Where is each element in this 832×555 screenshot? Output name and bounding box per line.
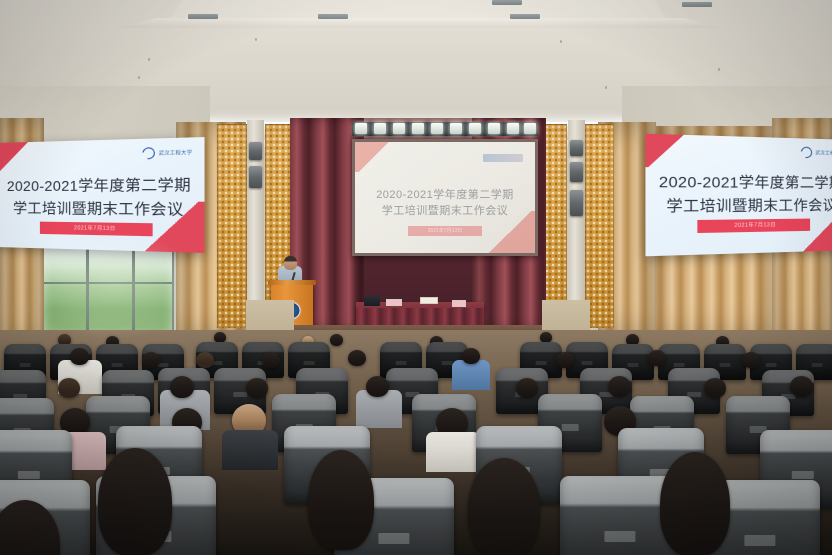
loudspeaker: [570, 140, 583, 156]
stage-light: [412, 123, 424, 134]
loudspeaker: [570, 162, 583, 182]
acoustic-panel: [585, 124, 614, 328]
attendee-head: [308, 450, 374, 550]
slide-date: 2021年7月13日: [697, 219, 810, 233]
podium-top: [268, 280, 316, 285]
loudspeaker: [570, 190, 583, 216]
attendee-head: [742, 352, 760, 368]
ceiling-vent: [188, 14, 218, 19]
university-wordmark: 武汉工程大学: [815, 150, 832, 157]
led-display-left: 武汉工程大学 2020-2021学年度第二学期 学工培训暨期末工作会议 2021…: [0, 137, 205, 253]
university-logo-icon: [140, 145, 158, 162]
university-logo: 武汉工程大学: [143, 146, 193, 159]
slide-title-line2: 学工培训暨期末工作会议: [0, 198, 205, 221]
attendee-head: [58, 378, 80, 398]
stage-light: [488, 123, 500, 134]
name-card: [386, 299, 402, 306]
attendee-torso: [452, 360, 490, 390]
slide-corner-accent-top-left: [645, 134, 685, 168]
window-left: [42, 246, 174, 338]
laptop: [364, 296, 380, 306]
ceiling-speck: [560, 40, 562, 43]
projection-screen-frame: 2020-2021学年度第二学期 学工培训暨期末工作会议 2021年7月13日: [352, 139, 538, 256]
audience-area: [0, 330, 832, 555]
ceiling-speck: [255, 38, 257, 41]
stage-light: [450, 123, 462, 134]
stage-light: [355, 123, 367, 134]
university-logo-icon: [799, 145, 815, 161]
window-mullion: [132, 248, 135, 336]
attendee-head: [246, 378, 268, 398]
attendee-head: [704, 378, 726, 398]
attendee-head: [468, 458, 540, 555]
attendee-head: [462, 348, 480, 364]
attendee-head: [648, 350, 666, 366]
stage-light: [469, 123, 481, 134]
attendee-head: [262, 352, 280, 368]
attendee-head: [330, 334, 343, 346]
loudspeaker: [249, 142, 262, 160]
ceiling-speck: [718, 68, 720, 71]
slide-date: 2021年7月13日: [408, 226, 482, 236]
attendee-head: [556, 352, 574, 368]
slide-title-line2: 学工培训暨期末工作会议: [355, 202, 535, 218]
attendee-torso: [222, 430, 278, 470]
attendee-head: [170, 376, 194, 398]
slide-title-line1: 2020-2021学年度第二学期: [0, 174, 205, 196]
ceiling-step: [120, 18, 720, 28]
attendee-head: [142, 352, 160, 368]
slide-corner-accent-top-left: [355, 142, 393, 172]
slide-date: 2021年7月13日: [40, 222, 153, 237]
attendee-head: [516, 378, 538, 398]
ceiling-vent: [682, 2, 712, 7]
attendee-head: [790, 376, 813, 397]
ceiling-vent: [492, 0, 522, 5]
stage-light: [507, 123, 519, 134]
window-mullion: [86, 248, 89, 336]
ceiling-speck: [148, 58, 150, 61]
photo-scene: 2020-2021学年度第二学期 学工培训暨期末工作会议 2021年7月13日 …: [0, 0, 832, 555]
attendee-head: [348, 350, 366, 366]
slide-title-line1: 2020-2021学年度第二学期: [645, 170, 832, 193]
stage-light: [524, 123, 536, 134]
attendee-head: [608, 376, 631, 397]
attendee-torso: [426, 432, 480, 472]
ceiling-speck: [138, 76, 140, 79]
university-logo-icon: [483, 154, 523, 162]
university-wordmark: 武汉工程大学: [159, 149, 193, 156]
attendee-head: [660, 452, 730, 555]
ceiling-speck: [605, 86, 607, 89]
university-logo: 武汉工程大学: [801, 147, 832, 159]
loudspeaker: [249, 166, 262, 188]
led-display-right: 武汉工程大学 2020-2021学年度第二学期 学工培训暨期末工作会议 2021…: [645, 134, 832, 257]
ceiling-vent: [510, 14, 540, 19]
attendee-head: [98, 448, 172, 555]
stage-light: [374, 123, 386, 134]
name-card: [452, 300, 466, 307]
projection-screen: 2020-2021学年度第二学期 学工培训暨期末工作会议 2021年7月13日: [355, 142, 535, 253]
stage-light: [431, 123, 443, 134]
window-mullion: [44, 282, 172, 284]
acoustic-panel: [217, 124, 247, 328]
slide-title-line2: 学工培训暨期末工作会议: [645, 195, 832, 217]
attendee-head: [196, 352, 214, 368]
attendee-head: [366, 376, 389, 397]
ceiling-vent: [318, 14, 348, 19]
speaker-person-head: [284, 256, 297, 270]
attendee-head: [70, 348, 89, 365]
stage-light: [393, 123, 405, 134]
stage-light-bar: [352, 122, 538, 136]
slide-title-line1: 2020-2021学年度第二学期: [355, 186, 535, 202]
name-card: [420, 297, 438, 304]
slide-corner-accent-top-left: [0, 142, 30, 173]
